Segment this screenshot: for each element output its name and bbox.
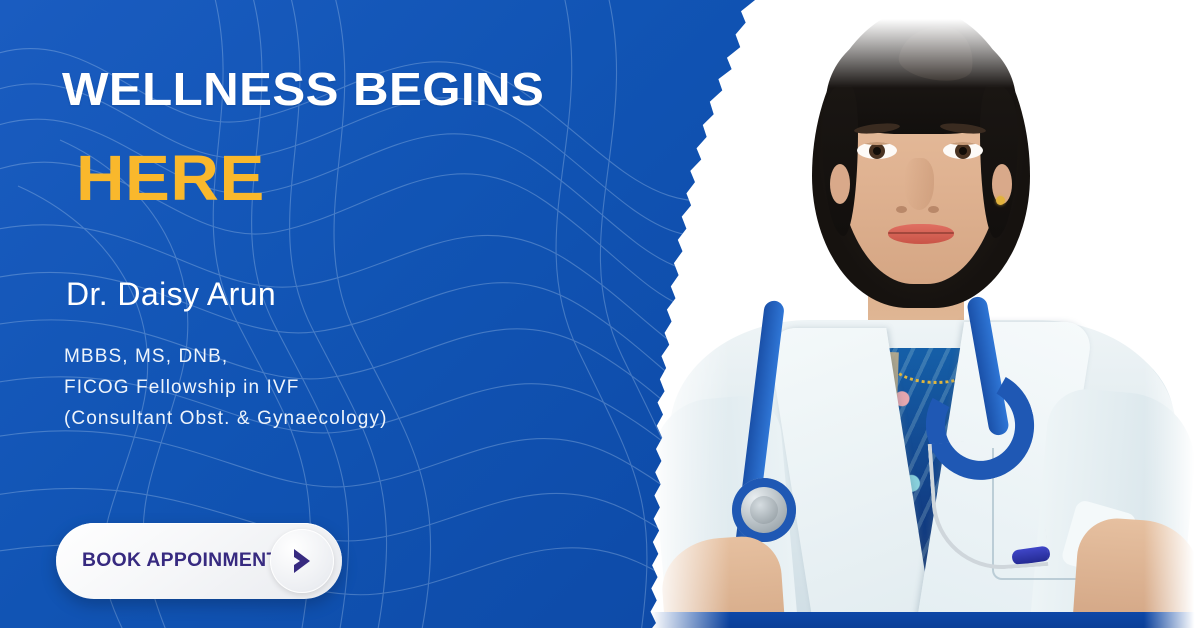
earring <box>996 196 1005 205</box>
nose-shape <box>904 158 934 210</box>
book-appointment-label: BOOK APPOINMENT <box>82 550 279 572</box>
nostril-left <box>896 206 907 213</box>
iris-right <box>955 143 971 159</box>
page-title: WELLNESS BEGINS <box>62 66 544 112</box>
doctor-credentials: MBBS, MS, DNB, FICOG Fellowship in IVF (… <box>64 342 388 434</box>
doctor-name: Dr. Daisy Arun <box>66 276 276 313</box>
eyelid-left <box>857 142 897 145</box>
nostril-right <box>928 206 939 213</box>
credential-line-2: FICOG Fellowship in IVF <box>64 373 388 404</box>
eye-left <box>857 142 897 159</box>
doctor-figure <box>640 0 1200 628</box>
pupil-left <box>873 147 881 155</box>
promo-banner: WELLNESS BEGINS HERE Dr. Daisy Arun MBBS… <box>0 0 1200 628</box>
stethoscope-diaphragm <box>750 496 778 524</box>
ear-left <box>830 164 850 204</box>
pupil-right <box>959 147 967 155</box>
doctor-photo <box>640 0 1200 628</box>
lip-line <box>888 232 954 234</box>
desk-strip <box>640 612 1200 628</box>
credential-line-1: MBBS, MS, DNB, <box>64 342 388 373</box>
book-appointment-button[interactable]: BOOK APPOINMENT <box>56 523 342 599</box>
lips-shape <box>888 224 954 244</box>
eye-right <box>943 142 983 159</box>
iris-left <box>869 143 885 159</box>
page-title-accent: HERE <box>76 146 265 210</box>
credential-line-3: (Consultant Obst. & Gynaecology) <box>64 404 388 435</box>
eyelid-right <box>943 142 983 145</box>
chevron-right-icon[interactable] <box>270 529 334 593</box>
